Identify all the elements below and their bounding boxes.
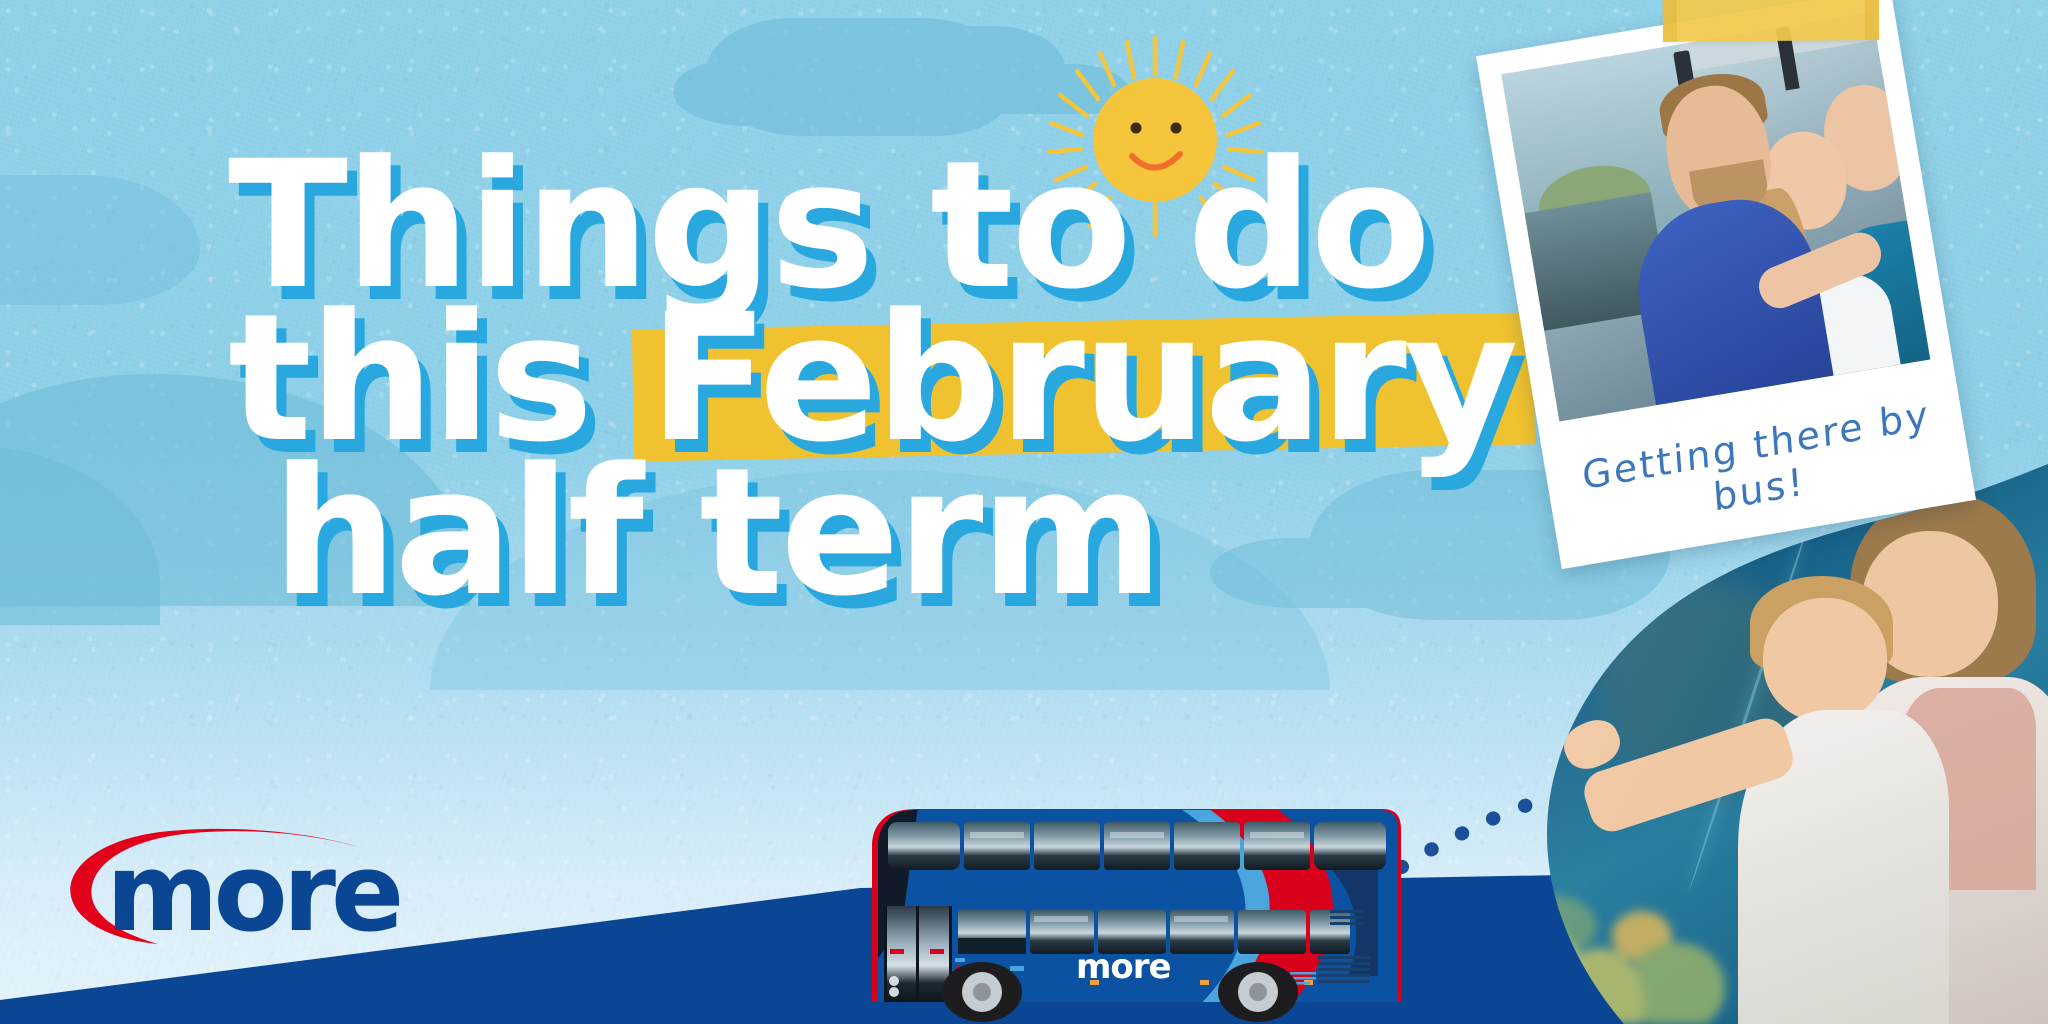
aquarium-glass-glare <box>1428 464 2048 1024</box>
promo-banner: Things to do this February half term <box>0 0 2048 1024</box>
headline-block: Things to do this February half term <box>228 150 1498 608</box>
more-logo-text: more <box>106 831 400 956</box>
more-logo[interactable]: more <box>62 812 462 962</box>
polaroid-photo-image <box>1501 12 1930 421</box>
polaroid-photo-card: Getting there by bus! <box>1476 0 1976 569</box>
double-decker-bus-illustration: more <box>858 806 1414 1024</box>
aquarium-photo-image <box>1428 464 2048 1024</box>
cloud-shape-top <box>705 18 1015 136</box>
svg-text:more: more <box>1076 947 1171 987</box>
washi-tape <box>1663 0 1879 42</box>
headline-highlight-wrap: February <box>649 303 1516 454</box>
headline-highlight-text: February <box>649 276 1516 481</box>
aquarium-photo-blob <box>1428 464 2048 1024</box>
